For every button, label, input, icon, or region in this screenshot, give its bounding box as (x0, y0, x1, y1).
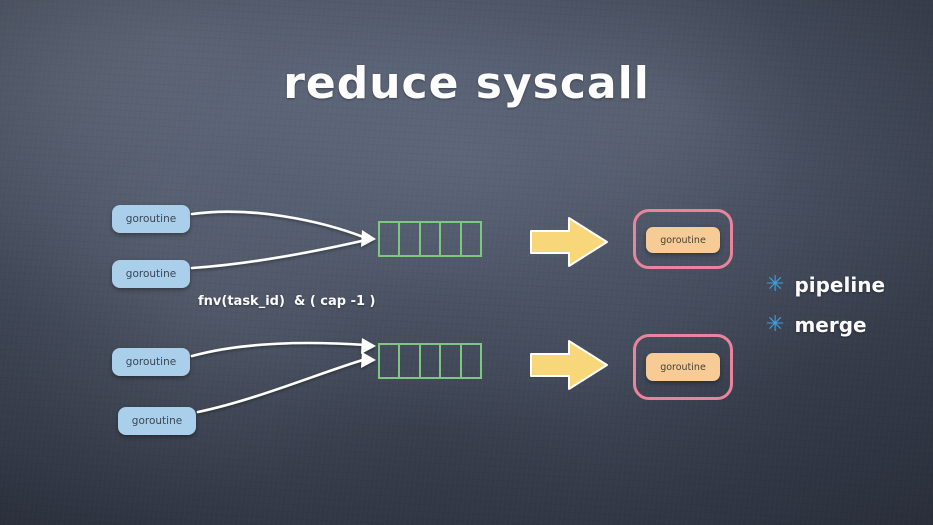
bullet-item-merge: ✳ merge (766, 313, 867, 337)
page-title: reduce syscall (0, 58, 933, 109)
ring-buffer-cell (421, 223, 441, 255)
producer-goroutine-2: goroutine (112, 260, 190, 288)
arrowhead-top-queue (361, 230, 376, 247)
ring-buffer-cell (441, 223, 461, 255)
asterisk-bullet-icon: ✳ (766, 274, 784, 296)
consumer-goroutine-2: goroutine (646, 353, 720, 381)
arrowhead-bottom-queue-2 (361, 352, 376, 368)
producer-goroutine-1-label: goroutine (126, 213, 176, 225)
flush-arrow-bottom (531, 341, 607, 389)
slide-canvas: reduce syscall goroutine goroutine gorou… (0, 0, 933, 525)
producer-connector-arrows (192, 212, 376, 412)
consumer-goroutine-1-label: goroutine (660, 235, 706, 246)
producer-goroutine-4-label: goroutine (132, 415, 182, 427)
producer-goroutine-1: goroutine (112, 205, 190, 233)
connector-producer-1 (192, 212, 366, 238)
ring-buffer-cell (462, 345, 480, 377)
asterisk-bullet-icon: ✳ (766, 314, 784, 336)
consumer-goroutine-2-label: goroutine (660, 362, 706, 373)
ring-buffer-cell (421, 345, 441, 377)
bullet-item-merge-label: merge (794, 313, 866, 337)
flush-arrows (531, 218, 607, 389)
connector-producer-3 (192, 343, 366, 356)
flush-arrow-top (531, 218, 607, 266)
ring-buffer-cell (462, 223, 480, 255)
producer-goroutine-3-label: goroutine (126, 356, 176, 368)
ring-buffer-top (378, 221, 482, 257)
connector-producer-2 (192, 240, 366, 268)
hash-formula-label: fnv(task_id) & ( cap -1 ) (198, 294, 376, 309)
producer-goroutine-2-label: goroutine (126, 268, 176, 280)
ring-buffer-cell (400, 223, 420, 255)
ring-buffer-cell (380, 223, 400, 255)
consumer-goroutine-1: goroutine (646, 227, 720, 253)
ring-buffer-bottom (378, 343, 482, 379)
ring-buffer-cell (400, 345, 420, 377)
producer-goroutine-3: goroutine (112, 348, 190, 376)
connector-producer-4 (198, 359, 366, 412)
bullet-item-pipeline-label: pipeline (794, 273, 885, 297)
ring-buffer-cell (380, 345, 400, 377)
producer-goroutine-4: goroutine (118, 407, 196, 435)
ring-buffer-cell (441, 345, 461, 377)
bullet-item-pipeline: ✳ pipeline (766, 273, 885, 297)
arrowhead-bottom-queue-1 (361, 338, 376, 354)
